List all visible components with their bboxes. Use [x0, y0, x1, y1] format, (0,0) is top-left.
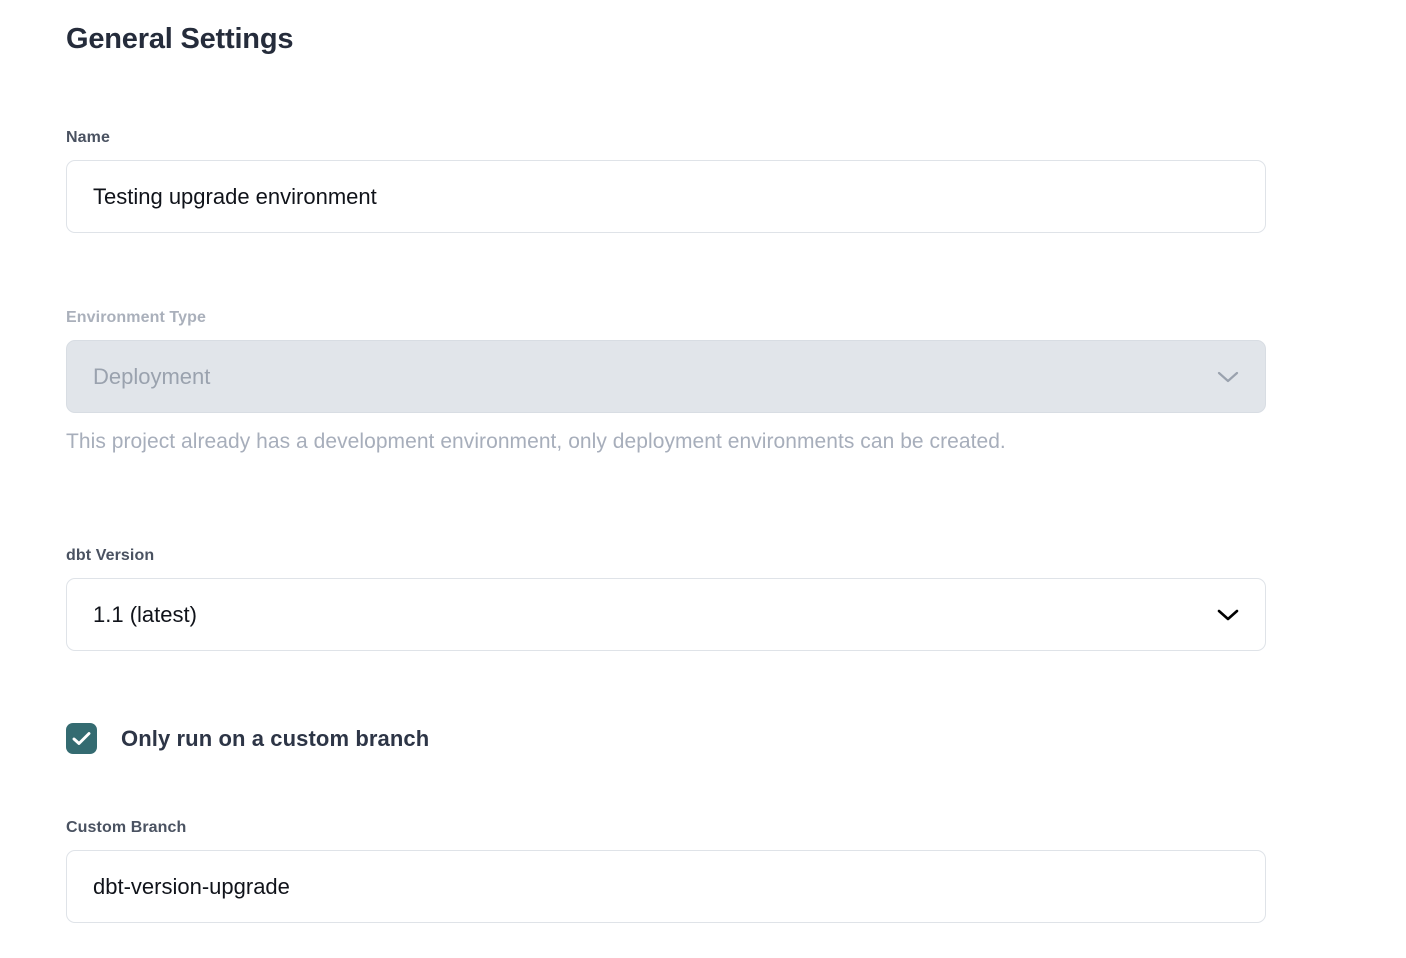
name-input[interactable]: Testing upgrade environment	[66, 160, 1266, 233]
general-settings-panel: General Settings Name Testing upgrade en…	[0, 0, 1406, 958]
custom-branch-field-group: Custom Branch dbt-version-upgrade	[66, 818, 1266, 923]
custom-branch-label: Custom Branch	[66, 818, 1266, 837]
page-title: General Settings	[66, 24, 293, 56]
environment-type-select[interactable]: Deployment	[66, 340, 1266, 413]
environment-type-value: Deployment	[93, 366, 210, 388]
chevron-down-icon	[1217, 608, 1239, 622]
dbt-version-field-group: dbt Version 1.1 (latest)	[66, 546, 1266, 651]
dbt-version-value: 1.1 (latest)	[93, 604, 197, 626]
dbt-version-label: dbt Version	[66, 546, 1266, 565]
name-label: Name	[66, 128, 1266, 147]
checkmark-icon	[72, 731, 91, 746]
chevron-down-icon	[1217, 370, 1239, 384]
dbt-version-select[interactable]: 1.1 (latest)	[66, 578, 1266, 651]
environment-type-helper-text: This project already has a development e…	[66, 429, 1266, 455]
name-field-group: Name Testing upgrade environment	[66, 128, 1266, 233]
custom-branch-input[interactable]: dbt-version-upgrade	[66, 850, 1266, 923]
custom-branch-checkbox-row[interactable]: Only run on a custom branch	[66, 723, 429, 754]
environment-type-label: Environment Type	[66, 308, 1266, 327]
custom-branch-checkbox-label: Only run on a custom branch	[121, 728, 429, 750]
environment-type-field-group: Environment Type Deployment This project…	[66, 308, 1266, 455]
custom-branch-checkbox[interactable]	[66, 723, 97, 754]
